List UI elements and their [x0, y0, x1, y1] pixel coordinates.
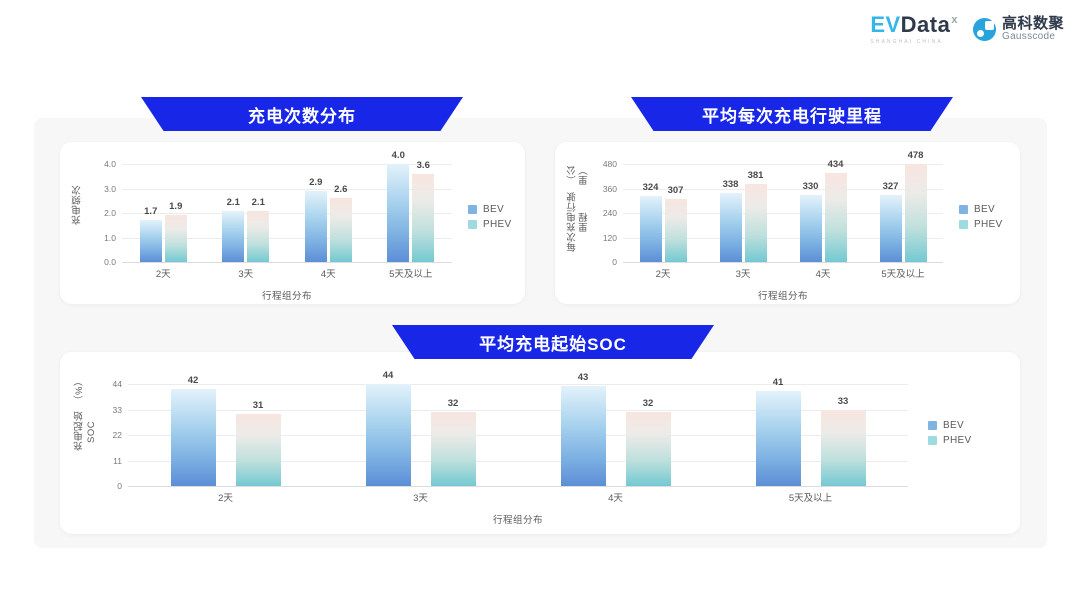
bar-value-label: 381 [748, 170, 764, 181]
bar-bev[interactable]: 324 [640, 196, 662, 262]
grid-line [128, 486, 908, 487]
plot-area: 1.71.92.12.12.92.64.03.6 [122, 164, 452, 262]
bar-phev[interactable]: 33 [821, 410, 866, 487]
chart-legend: BEVPHEV [959, 204, 1002, 230]
bar-value-label: 31 [253, 400, 264, 411]
legend-label: PHEV [974, 219, 1002, 230]
bar-bev[interactable]: 4.0 [387, 164, 409, 262]
y-axis-ticks: 0120240360480 [555, 164, 617, 262]
chart-title-1: 充电次数分布 [248, 102, 356, 127]
legend-label: PHEV [943, 435, 971, 446]
bar-value-label: 2.1 [252, 197, 265, 208]
legend-item-bev[interactable]: BEV [468, 204, 511, 215]
bar-phev[interactable]: 2.6 [330, 198, 352, 262]
bar-value-label: 307 [668, 185, 684, 196]
evdata-logo-superscript: x [951, 14, 958, 26]
x-axis-tick-label: 3天 [703, 266, 783, 280]
bar-group: 4432 [323, 384, 518, 486]
bar-group: 324307 [623, 164, 703, 262]
chart-title-banner-2: 平均每次充电行驶里程 [631, 97, 953, 131]
y-axis-tick-label: 22 [113, 430, 122, 440]
y-axis-tick-label: 120 [603, 233, 617, 243]
grid-line [623, 262, 943, 263]
y-axis-tick-label: 0.0 [104, 257, 116, 267]
legend-label: BEV [974, 204, 995, 215]
bar-value-label: 434 [828, 159, 844, 170]
bar-value-label: 338 [723, 179, 739, 190]
bar-group: 4133 [713, 384, 908, 486]
bar-bev[interactable]: 2.9 [305, 191, 327, 262]
bar-value-label: 4.0 [392, 150, 405, 161]
x-axis-tick-label: 5天及以上 [863, 266, 943, 280]
y-axis-tick-label: 0 [612, 257, 617, 267]
y-axis-tick-label: 4.0 [104, 159, 116, 169]
bar-value-label: 32 [643, 398, 654, 409]
x-axis-title: 行程组分布 [128, 512, 908, 526]
bar-value-label: 324 [643, 182, 659, 193]
bar-group: 4332 [518, 384, 713, 486]
legend-swatch-icon [959, 220, 968, 229]
bar-bev[interactable]: 42 [171, 389, 216, 486]
evdata-logo-tagline: SHANGHAI CHINA [870, 39, 942, 45]
bar-phev[interactable]: 434 [825, 173, 847, 262]
bar-group: 4.03.6 [370, 164, 453, 262]
x-axis-tick-label: 3天 [205, 266, 288, 280]
evdata-wordmark: EVDatax [870, 14, 957, 36]
x-axis-tick-label: 2天 [128, 490, 323, 504]
logo-group: EVDatax SHANGHAI CHINA 高科数聚 Gausscode [870, 14, 1064, 45]
bar-value-label: 32 [448, 398, 459, 409]
x-axis-tick-label: 4天 [783, 266, 863, 280]
legend-item-phev[interactable]: PHEV [928, 435, 971, 446]
x-axis-tick-label: 3天 [323, 490, 518, 504]
bar-phev[interactable]: 1.9 [165, 215, 187, 262]
bar-bev[interactable]: 327 [880, 195, 902, 262]
legend-item-phev[interactable]: PHEV [468, 219, 511, 230]
y-axis-tick-label: 0 [117, 481, 122, 491]
bar-group: 1.71.9 [122, 164, 205, 262]
bar-value-label: 327 [883, 181, 899, 192]
bar-chart-mileage-per-charge: 每次充电行驶里程（公里）0120240360480324307338381330… [555, 142, 1020, 304]
y-axis-tick-label: 240 [603, 208, 617, 218]
y-axis-tick-label: 360 [603, 184, 617, 194]
bar-chart-charging-frequency: 充电频次0.01.02.03.04.01.71.92.12.12.92.64.0… [60, 142, 525, 304]
bar-value-label: 2.9 [309, 177, 322, 188]
chart-legend: BEVPHEV [468, 204, 511, 230]
y-axis-tick-label: 11 [113, 456, 122, 466]
bar-bev[interactable]: 338 [720, 193, 742, 262]
y-axis-tick-label: 33 [113, 405, 122, 415]
bar-group: 338381 [703, 164, 783, 262]
legend-label: PHEV [483, 219, 511, 230]
bar-group: 4231 [128, 384, 323, 486]
evdata-logo-main: Data [901, 12, 951, 37]
x-axis-tick-label: 5天及以上 [370, 266, 453, 280]
gausscode-wordmark: 高科数聚 Gausscode [1002, 16, 1064, 42]
bar-bev[interactable]: 41 [756, 391, 801, 486]
bar-bev[interactable]: 330 [800, 195, 822, 262]
bar-value-label: 44 [383, 370, 394, 381]
legend-item-bev[interactable]: BEV [928, 420, 971, 431]
bar-value-label: 41 [773, 377, 784, 388]
y-axis-ticks: 0.01.02.03.04.0 [60, 164, 116, 262]
chart-title-banner-1: 充电次数分布 [141, 97, 463, 131]
bar-phev[interactable]: 31 [236, 414, 281, 486]
x-axis-tick-label: 4天 [518, 490, 713, 504]
bar-value-label: 2.1 [227, 197, 240, 208]
bar-value-label: 33 [838, 396, 849, 407]
bar-phev[interactable]: 2.1 [247, 211, 269, 262]
chart-legend: BEVPHEV [928, 420, 971, 446]
x-axis-tick-label: 5天及以上 [713, 490, 908, 504]
bar-group: 330434 [783, 164, 863, 262]
x-axis-labels: 2天3天4天5天及以上 [122, 266, 452, 280]
evdata-logo: EVDatax SHANGHAI CHINA [870, 14, 957, 45]
chart-title-2: 平均每次充电行驶里程 [702, 102, 882, 127]
x-axis-tick-label: 2天 [122, 266, 205, 280]
bar-bev[interactable]: 1.7 [140, 220, 162, 262]
bar-value-label: 3.6 [417, 160, 430, 171]
legend-swatch-icon [468, 205, 477, 214]
bar-value-label: 42 [188, 375, 199, 386]
x-axis-tick-label: 4天 [287, 266, 370, 280]
bar-value-label: 1.9 [169, 201, 182, 212]
bar-phev[interactable]: 478 [905, 164, 927, 262]
x-axis-title: 行程组分布 [623, 288, 943, 302]
bar-group: 2.92.6 [287, 164, 370, 262]
bar-chart-start-soc: 充电起始SOC（%）01122334442314432433241332天3天4… [60, 352, 1020, 534]
bar-group: 327478 [863, 164, 943, 262]
y-axis-tick-label: 3.0 [104, 184, 116, 194]
bar-bev[interactable]: 43 [561, 386, 606, 486]
plot-area: 324307338381330434327478 [623, 164, 943, 262]
bar-value-label: 478 [908, 150, 924, 161]
legend-swatch-icon [928, 421, 937, 430]
gausscode-mark-icon [973, 18, 996, 41]
legend-label: BEV [483, 204, 504, 215]
bar-phev[interactable]: 307 [665, 199, 687, 262]
bar-bev[interactable]: 2.1 [222, 211, 244, 262]
legend-label: BEV [943, 420, 964, 431]
gausscode-logo-en: Gausscode [1002, 32, 1064, 43]
bar-value-label: 1.7 [144, 206, 157, 217]
legend-swatch-icon [959, 205, 968, 214]
bar-phev[interactable]: 3.6 [412, 174, 434, 262]
evdata-logo-prefix: EV [870, 12, 900, 37]
bar-phev[interactable]: 381 [745, 184, 767, 262]
legend-swatch-icon [928, 436, 937, 445]
legend-swatch-icon [468, 220, 477, 229]
x-axis-title: 行程组分布 [122, 288, 452, 302]
y-axis-tick-label: 1.0 [104, 233, 116, 243]
bar-value-label: 43 [578, 372, 589, 383]
y-axis-tick-label: 44 [113, 379, 122, 389]
y-axis-ticks: 011223344 [60, 384, 122, 486]
bar-bev[interactable]: 44 [366, 384, 411, 486]
bar-value-label: 330 [803, 181, 819, 192]
gausscode-logo: 高科数聚 Gausscode [973, 16, 1064, 42]
plot-area: 4231443243324133 [128, 384, 908, 486]
gausscode-logo-cn: 高科数聚 [1002, 16, 1064, 32]
legend-item-phev[interactable]: PHEV [959, 219, 1002, 230]
bar-phev[interactable]: 32 [431, 412, 476, 486]
page-header: EVDatax SHANGHAI CHINA 高科数聚 Gausscode [0, 0, 1080, 62]
bar-group: 2.12.1 [205, 164, 288, 262]
y-axis-tick-label: 2.0 [104, 208, 116, 218]
x-axis-labels: 2天3天4天5天及以上 [623, 266, 943, 280]
x-axis-labels: 2天3天4天5天及以上 [128, 490, 908, 504]
grid-line [122, 262, 452, 263]
legend-item-bev[interactable]: BEV [959, 204, 1002, 215]
y-axis-tick-label: 480 [603, 159, 617, 169]
chart-title-banner-3: 平均充电起始SOC [392, 325, 714, 359]
x-axis-tick-label: 2天 [623, 266, 703, 280]
bar-value-label: 2.6 [334, 184, 347, 195]
bar-phev[interactable]: 32 [626, 412, 671, 486]
chart-title-3: 平均充电起始SOC [479, 330, 627, 355]
